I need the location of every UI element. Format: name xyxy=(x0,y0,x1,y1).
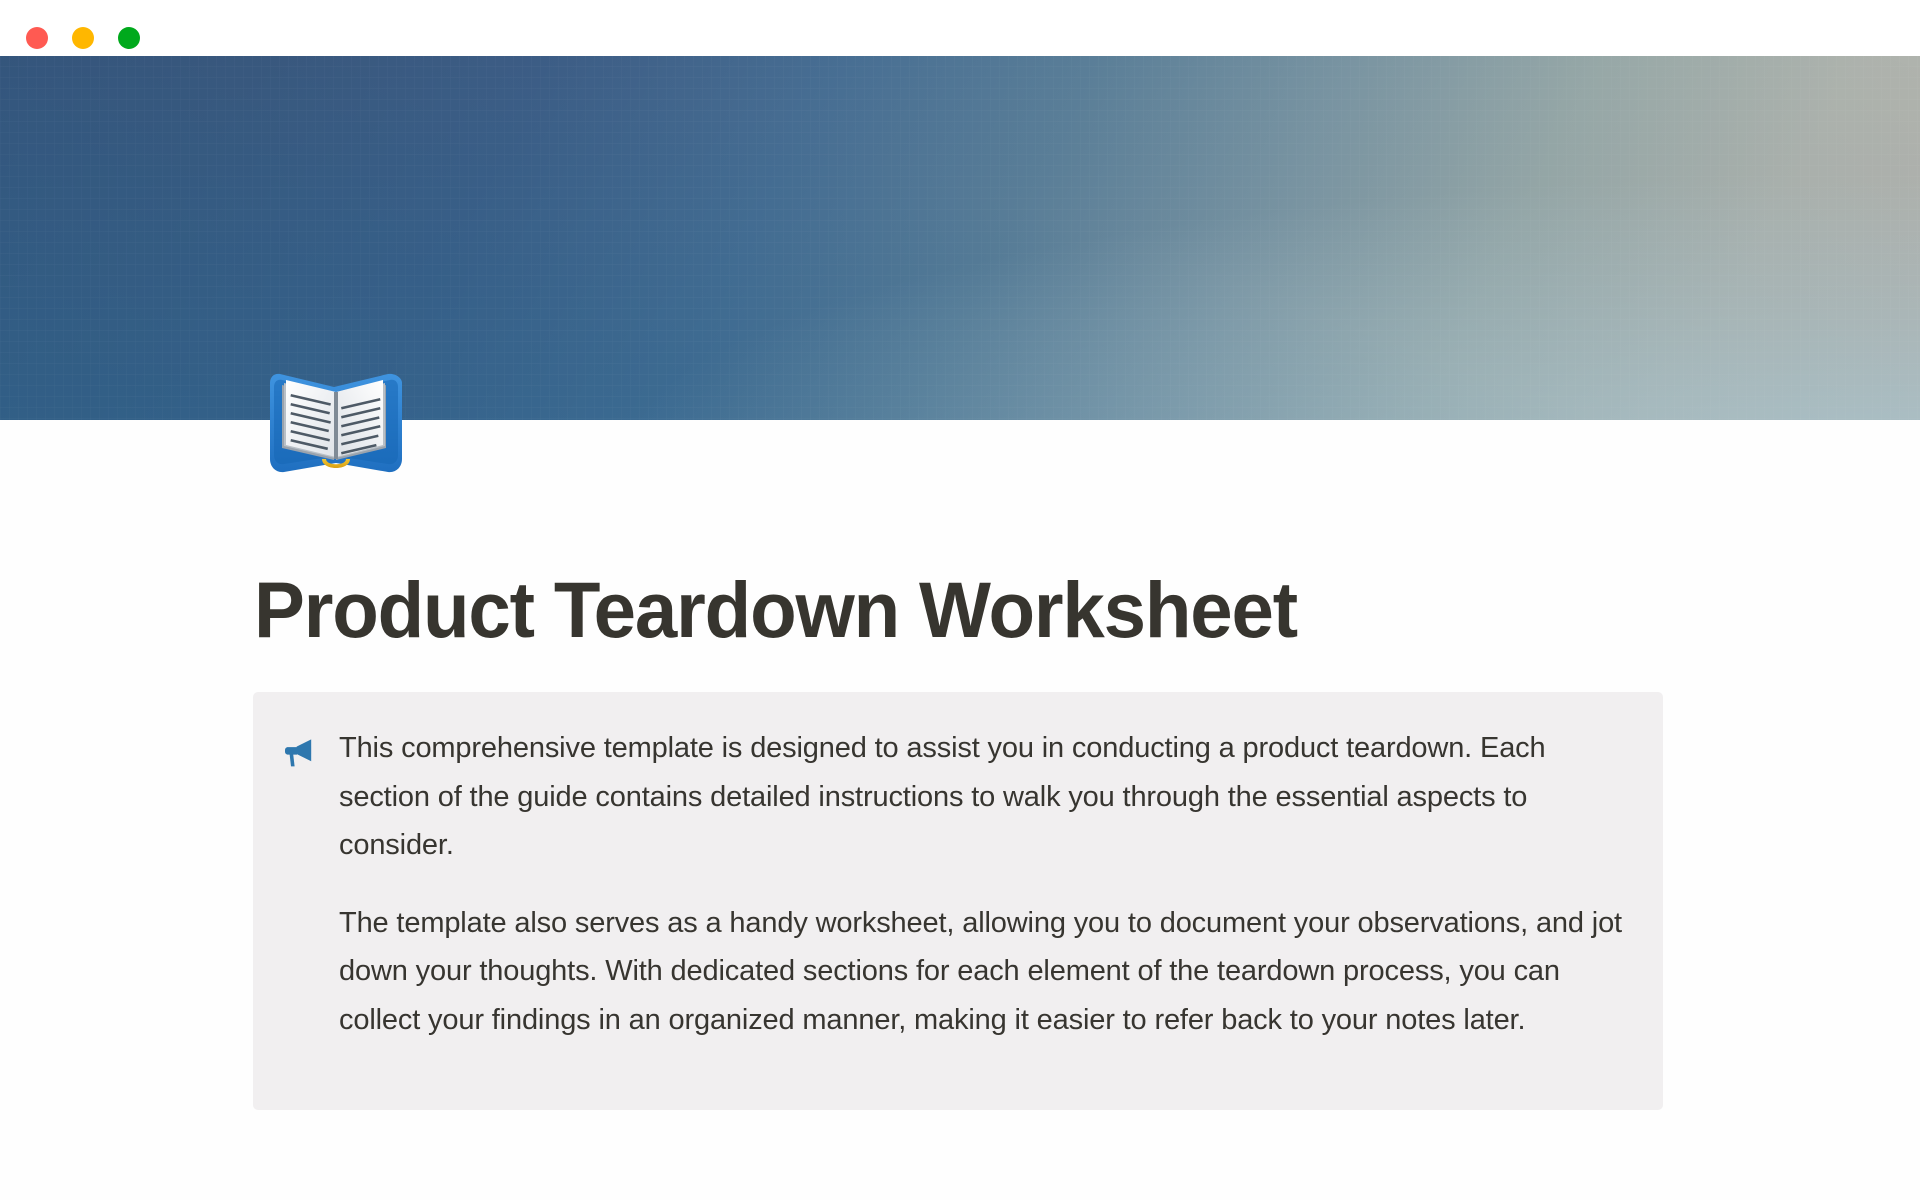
app-window: Product Teardown Worksheet This comprehe… xyxy=(0,0,1920,1200)
maximize-window-button[interactable] xyxy=(118,27,140,49)
page-title[interactable]: Product Teardown Worksheet xyxy=(254,568,1297,652)
callout-text: This comprehensive template is designed … xyxy=(339,724,1623,1044)
callout-paragraph-2: The template also serves as a handy work… xyxy=(339,899,1623,1045)
window-titlebar xyxy=(0,0,1920,56)
minimize-window-button[interactable] xyxy=(72,27,94,49)
megaphone-icon[interactable] xyxy=(281,736,315,778)
callout-paragraph-1: This comprehensive template is designed … xyxy=(339,724,1623,870)
window-traffic-lights xyxy=(26,27,140,49)
callout-block[interactable]: This comprehensive template is designed … xyxy=(253,692,1663,1110)
close-window-button[interactable] xyxy=(26,27,48,49)
open-book-emoji-icon[interactable] xyxy=(260,347,412,483)
